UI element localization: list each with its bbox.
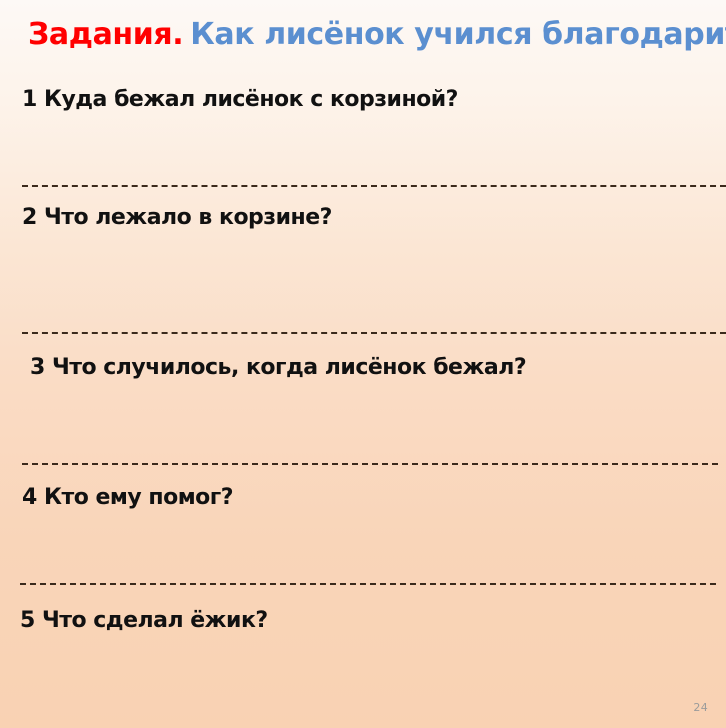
question-block-4: 4 Кто ему помог? [0, 465, 726, 583]
question-block-2: 2 Что лежало в корзине? [0, 187, 726, 332]
question-text-5: 5 Что сделал ёжик? [20, 609, 726, 632]
title-accent-text: Задания. [28, 17, 183, 52]
title-main-text: Как лисёнок учился благодарить [190, 17, 726, 52]
question-list: 1 Куда бежал лисёнок с корзиной? 2 Что л… [0, 72, 726, 695]
slide-canvas: Задания.Как лисёнок учился благодарить 1… [0, 0, 726, 728]
slide-number: 24 [693, 701, 708, 714]
question-block-1: 1 Куда бежал лисёнок с корзиной? [0, 72, 726, 185]
question-text-3: 3 Что случилось, когда лисёнок бежал? [30, 356, 726, 379]
question-text-2: 2 Что лежало в корзине? [22, 206, 726, 229]
page-title: Задания.Как лисёнок учился благодарить [28, 18, 718, 52]
question-block-5: 5 Что сделал ёжик? [0, 585, 726, 695]
question-text-4: 4 Кто ему помог? [22, 486, 726, 509]
question-text-1: 1 Куда бежал лисёнок с корзиной? [22, 88, 726, 111]
question-block-3: 3 Что случилось, когда лисёнок бежал? [0, 334, 726, 463]
